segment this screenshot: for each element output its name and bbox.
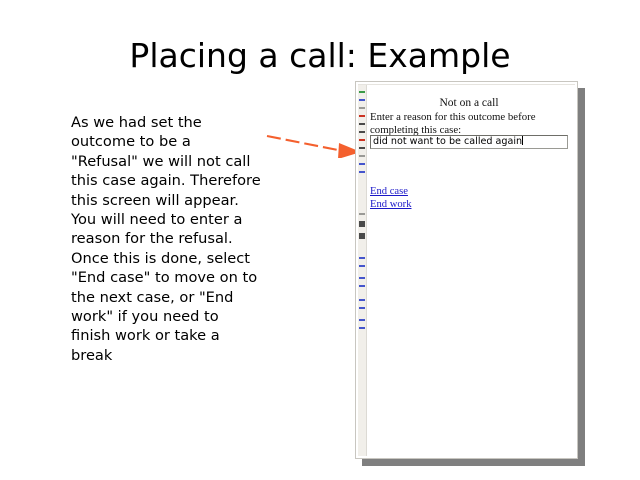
page-title: Placing a call: Example <box>0 36 640 75</box>
reason-input[interactable]: did not want to be called again <box>370 135 568 149</box>
embedded-screenshot: Not on a call Enter a reason for this ou… <box>355 81 578 459</box>
screenshot-viewport: Not on a call Enter a reason for this ou… <box>358 84 575 456</box>
slide-canvas: Placing a call: Example As we had set th… <box>0 0 640 480</box>
clipped-nav-strip <box>358 85 367 456</box>
annotation-arrow <box>265 118 365 158</box>
end-case-link[interactable]: End case <box>370 185 412 198</box>
slide-body-text: As we had set the outcome to be a "Refus… <box>71 113 261 365</box>
reason-instruction-label: Enter a reason for this outcome before c… <box>370 111 575 136</box>
text-caret <box>522 136 523 145</box>
action-links: End case End work <box>370 185 412 211</box>
end-work-link[interactable]: End work <box>370 198 412 211</box>
screenshot-heading: Not on a call <box>367 97 571 109</box>
screenshot-page: Not on a call Enter a reason for this ou… <box>367 85 575 456</box>
reason-input-value: did not want to be called again <box>373 136 522 147</box>
